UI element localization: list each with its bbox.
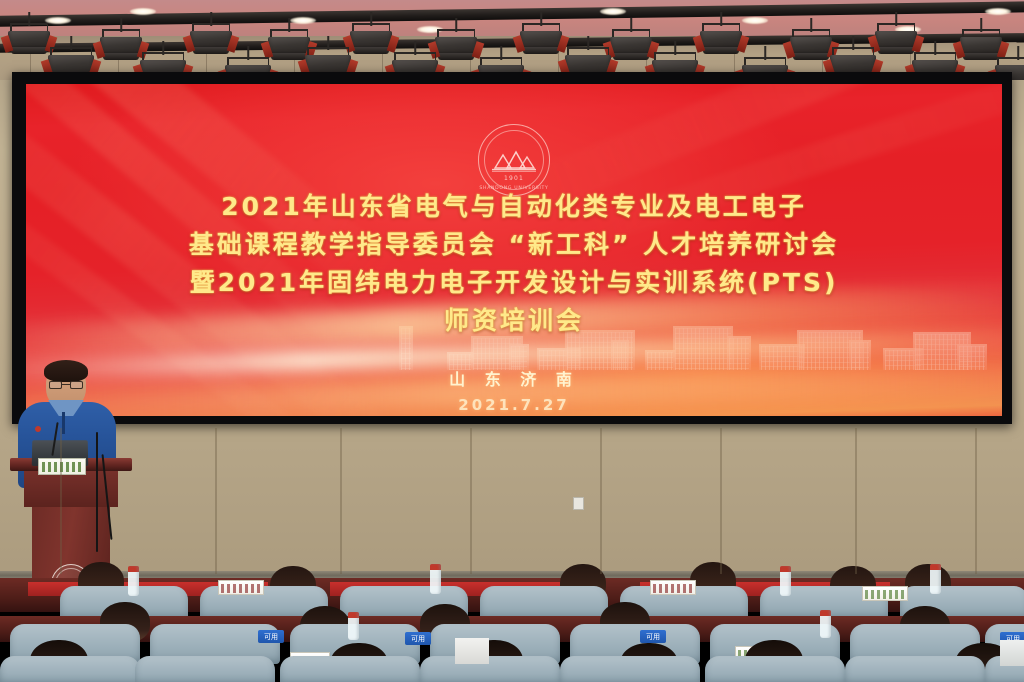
seat-availability-sign: 可用 [258, 630, 284, 643]
wall-seam [470, 428, 472, 574]
water-bottle [780, 566, 791, 596]
wall-seam [340, 428, 342, 574]
speaker-placket [62, 412, 65, 434]
audience-seat[interactable] [420, 656, 560, 682]
wall-seam [60, 428, 62, 574]
speaker-glasses-icon [49, 381, 83, 389]
emblem-year: 1901 [479, 175, 549, 182]
seat-availability-sign: 可用 [405, 632, 431, 645]
ceiling-light-icon [985, 8, 1011, 15]
ceiling-light-icon [45, 17, 71, 24]
speaker-shirt-logo [35, 426, 41, 432]
water-bottle [930, 564, 941, 594]
speaker-hair [44, 360, 88, 382]
water-bottle [128, 566, 139, 596]
wall-seam [975, 428, 977, 574]
wall-seam [855, 428, 857, 574]
audience-seat[interactable] [705, 656, 845, 682]
led-screen: 1901 SHANDONG UNIVERSITY 2021年山东省电气与自动化类… [26, 84, 1002, 416]
ceiling-light-icon [290, 17, 316, 24]
name-card [862, 586, 908, 601]
audience-area: 可用可用可用可用 [0, 560, 1024, 682]
audience-shirt [455, 638, 489, 664]
water-bottle [430, 564, 441, 594]
wall-seam [215, 428, 217, 574]
title-line-3: 暨2021年固纬电力电子开发设计与实训系统(PTS) [26, 264, 1002, 302]
audience-seat[interactable] [480, 586, 608, 620]
audience-seat[interactable] [135, 656, 275, 682]
wall-seam [720, 428, 722, 574]
cable [96, 432, 98, 552]
water-bottle [820, 610, 831, 638]
screen-date-text: 2021.7.27 [26, 396, 1002, 414]
wall-seam [600, 428, 602, 574]
led-screen-frame: 1901 SHANDONG UNIVERSITY 2021年山东省电气与自动化类… [12, 72, 1012, 424]
wall-socket-right [573, 497, 584, 510]
title-line-2: 基础课程教学指导委员会 “新工科” 人才培养研讨会 [26, 226, 1002, 264]
ceiling-light-icon [130, 8, 156, 15]
name-card [218, 580, 264, 595]
seat-availability-sign: 可用 [640, 630, 666, 643]
lighting-truss-front [0, 1, 1024, 27]
conference-photo-scene: 1901 SHANDONG UNIVERSITY 2021年山东省电气与自动化类… [0, 0, 1024, 682]
ceiling-light-icon [600, 8, 626, 15]
name-card [650, 580, 696, 595]
water-bottle [348, 612, 359, 640]
shandong-university-emblem-icon: 1901 SHANDONG UNIVERSITY [478, 124, 550, 196]
title-line-4: 师资培训会 [26, 302, 1002, 340]
audience-seat[interactable] [280, 656, 420, 682]
audience-seat[interactable] [845, 656, 985, 682]
audience-shirt [1000, 640, 1024, 666]
title-line-1: 2021年山东省电气与自动化类专业及电工电子 [26, 188, 1002, 226]
screen-title-block: 2021年山东省电气与自动化类专业及电工电子 基础课程教学指导委员会 “新工科”… [26, 188, 1002, 340]
audience-seat[interactable] [560, 656, 700, 682]
ceiling-light-icon [742, 17, 768, 24]
lectern-nameplate [38, 458, 86, 475]
screen-venue-text: 山 东 济 南 [26, 366, 1002, 390]
audience-seat[interactable] [0, 656, 140, 682]
